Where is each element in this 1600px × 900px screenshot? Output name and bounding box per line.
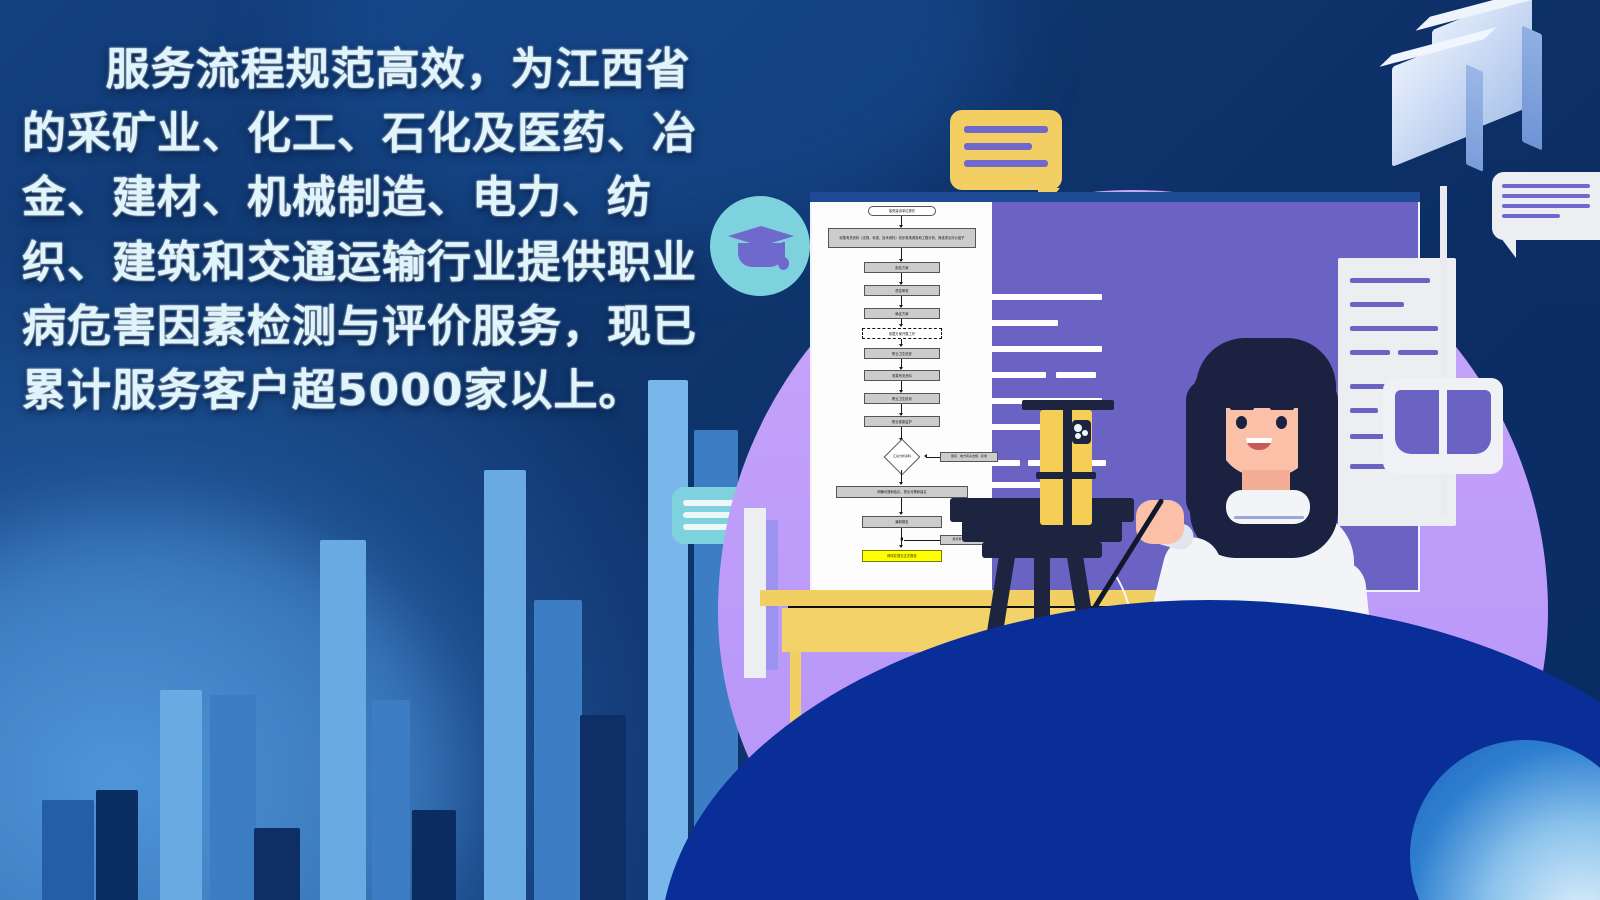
teeth <box>1246 438 1272 443</box>
classroom-scene: 接受建设单位委托 收集有关资料（法规、标准、技术资料）初步现场调查和工程分析，筛… <box>700 120 1600 900</box>
flow-side-node-regulations: 国家、地方有关法规、标准 <box>940 452 998 462</box>
poster-line <box>1350 278 1430 283</box>
flow-node-confirm-plan: 确定方案 <box>864 308 940 319</box>
headline-line: 织、建筑和交通运输行业提供职业 <box>22 231 782 295</box>
poster-line <box>1398 350 1438 355</box>
board-text-line <box>990 294 1102 300</box>
flow-arrow <box>900 537 903 541</box>
poster-canvas: 服务流程规范高效，为江西省 的采矿业、化工、石化及医药、冶 金、建材、机械制造、… <box>0 0 1600 900</box>
poster-line <box>1350 350 1390 355</box>
eyebrow-right <box>1270 406 1294 410</box>
chart-bar <box>580 715 626 900</box>
page-title: 服务流程规范高效，为江西省 的采矿业、化工、石化及医药、冶 金、建材、机械制造、… <box>22 38 782 423</box>
board-text-line <box>990 482 1042 488</box>
headline-line: 的采矿业、化工、石化及医药、冶 <box>22 102 782 166</box>
flow-node-health-surveillance: 职业健康监护 <box>864 416 940 427</box>
flow-node-accept-commission: 接受建设单位委托 <box>868 206 936 216</box>
projector-top-bar <box>1022 400 1114 410</box>
flow-arrow <box>899 512 903 515</box>
headline-line: 病危害因素检测与评价服务，现已 <box>22 295 782 359</box>
board-text-line <box>990 346 1102 352</box>
open-book-icon-inner <box>1395 390 1491 462</box>
flow-node-collect-data: 收集有关资料（法规、标准、技术资料）初步现场调查和工程分析，筛选重点评价因子 <box>828 228 976 248</box>
headline-line: 服务流程规范高效，为江西省 <box>22 38 782 102</box>
eyebrow-left <box>1230 406 1254 410</box>
chart-bar <box>648 380 688 900</box>
collar-line <box>1234 516 1304 519</box>
projector-lens <box>1075 433 1081 439</box>
hair-side-left <box>1186 380 1226 520</box>
projector-lens <box>1074 424 1082 432</box>
projector-lens <box>1082 430 1088 436</box>
flow-node-execute-plan: 依据方案开展工作 <box>862 328 942 339</box>
flow-node-hygiene-testing: 职业卫生检测 <box>864 393 940 404</box>
chart-bar <box>254 828 300 900</box>
flow-node-analyze-data: 汇总分析资料 <box>880 444 924 470</box>
eye-left <box>1236 416 1247 429</box>
chart-bar <box>210 695 256 900</box>
book-base <box>1395 454 1491 462</box>
headline-line: 金、建材、机械制造、电力、纺 <box>22 166 782 230</box>
open-book-icon <box>1383 378 1503 474</box>
poster-line <box>1350 326 1438 331</box>
chart-bar <box>534 600 582 900</box>
headline-line: 累计服务客户超5000家以上。 <box>22 359 782 423</box>
chart-bar <box>372 700 410 900</box>
flow-node-conclusions: 明确问题和结论，提出对策和建议 <box>836 486 968 498</box>
flow-node-hygiene-inspection: 职业卫生检查 <box>864 348 940 359</box>
flow-arrow <box>899 545 903 548</box>
decision-label-text: 汇总分析资料 <box>893 455 911 459</box>
book-spine <box>1439 390 1447 454</box>
chart-bar <box>160 690 202 900</box>
board-text-line <box>990 320 1058 326</box>
flow-arrow <box>899 344 903 347</box>
projector-mount-column <box>1063 402 1072 534</box>
flow-node-quality-review: 质控审查 <box>864 285 940 296</box>
chart-bar <box>320 540 366 900</box>
decision-label: 汇总分析资料 <box>880 444 924 470</box>
book-page-left <box>1395 390 1441 454</box>
chart-bar <box>96 790 138 900</box>
eye-right <box>1276 416 1287 429</box>
flow-node-final-report: 修改并提交正式报告 <box>862 550 942 562</box>
background-bar-chart <box>0 340 780 900</box>
flow-node-draft-report: 编制报告 <box>862 516 942 528</box>
projector-mid-bar <box>1036 472 1096 479</box>
flow-connector <box>904 540 940 541</box>
chart-bar <box>42 800 94 900</box>
chart-bar <box>484 470 526 900</box>
flow-node-collect-materials: 收集有关资料 <box>864 370 940 381</box>
board-text-line <box>990 372 1046 378</box>
flow-arrow <box>899 482 903 485</box>
whiteboard-top-bar <box>810 192 1420 202</box>
poster-line <box>1350 302 1404 307</box>
flow-connector <box>926 457 940 458</box>
book-page-right <box>1445 390 1491 454</box>
board-text-line <box>1056 372 1096 378</box>
chart-bar <box>412 810 456 900</box>
flow-arrow <box>899 324 903 327</box>
flow-arrow <box>924 454 927 458</box>
poster-line <box>1350 408 1378 413</box>
flow-node-make-plan: 制定方案 <box>864 262 940 273</box>
